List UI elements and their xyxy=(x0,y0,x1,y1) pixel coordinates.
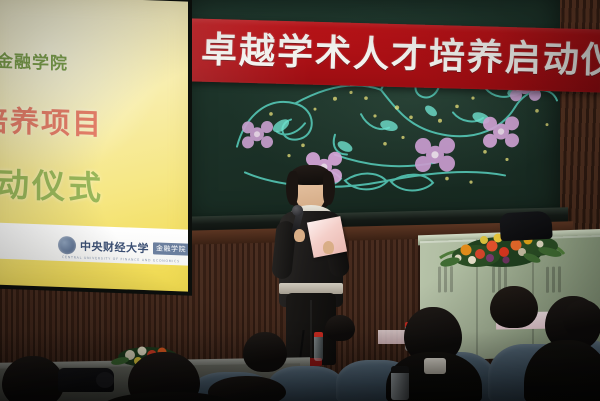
speaker-hair-right xyxy=(323,171,335,205)
slide-line-2: 才培养项目 xyxy=(0,96,188,147)
speaker-hand-right xyxy=(323,241,334,254)
dark-bag xyxy=(499,211,552,242)
photograph-lecture-hall: 卓越学术人才培养启动仪 经大学金融学院 才培养项目 启动仪式 中央财经大学 金融… xyxy=(0,0,600,401)
speaker-leg-divide xyxy=(310,300,312,362)
slide-line-1: 经大学金融学院 xyxy=(0,45,182,79)
camera-lens-icon xyxy=(96,372,114,388)
speaker-hand-left xyxy=(294,229,305,242)
audience-head xyxy=(563,300,600,338)
thermos-flask xyxy=(391,370,409,400)
university-name: 中央财经大学 xyxy=(80,238,149,257)
audience-head xyxy=(490,286,538,328)
banner-text: 卓越学术人才培养启动仪 xyxy=(200,23,600,89)
audience-head xyxy=(325,315,355,341)
speaker-hair-left xyxy=(286,171,298,205)
school-badge: 金融学院 xyxy=(153,242,188,255)
bottle-cap xyxy=(314,332,323,337)
slide-line-3: 启动仪式 xyxy=(0,156,188,213)
audience-shirt-collar xyxy=(424,358,446,374)
microphone-icon xyxy=(292,205,303,216)
audience-head xyxy=(243,332,287,372)
water-bottle xyxy=(314,335,323,361)
red-banner: 卓越学术人才培养启动仪 xyxy=(188,18,600,92)
thermos-lid xyxy=(391,366,409,373)
university-seal-icon xyxy=(58,236,76,255)
projection-screen: 经大学金融学院 才培养项目 启动仪式 中央财经大学 金融学院 CENTRAL U… xyxy=(0,0,188,292)
